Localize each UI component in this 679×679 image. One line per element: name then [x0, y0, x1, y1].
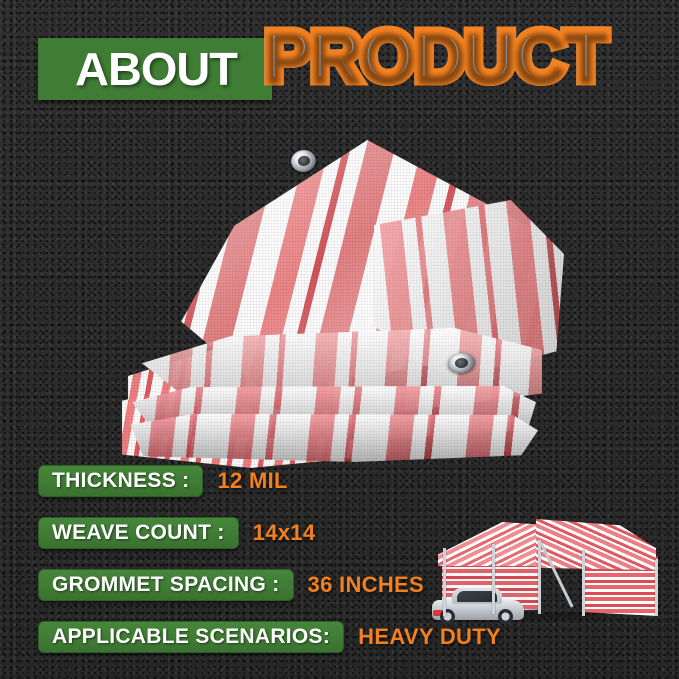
carport-post [655, 560, 658, 616]
header: ABOUT PRODUCT [0, 0, 679, 120]
spec-row-thickness: THICKNESS : 12 MIL [38, 464, 288, 498]
spec-value-grommet-spacing: 36 INCHES [308, 572, 424, 598]
product-title-text: PRODUCT [264, 17, 606, 97]
grommet-icon [290, 148, 318, 173]
spec-label-weave-count: WEAVE COUNT : [38, 517, 239, 549]
carport-post [582, 550, 585, 616]
carport-roof-right [536, 518, 656, 570]
carport-post [492, 544, 495, 614]
car-windshield [457, 591, 497, 602]
spec-label-grommet-spacing: GROMMET SPACING : [38, 569, 294, 601]
product-photo-tarp [118, 128, 538, 460]
product-title: PRODUCT [264, 21, 606, 93]
carport-post [443, 548, 446, 616]
infographic-canvas: ABOUT PRODUCT [0, 0, 679, 679]
spec-label-thickness: THICKNESS : [38, 465, 203, 497]
spec-value-weave-count: 14x14 [253, 520, 316, 546]
spec-value-applicable-scenarios: HEAVY DUTY [358, 624, 501, 650]
spec-row-applicable-scenarios: APPLICABLE SCENARIOS: HEAVY DUTY [38, 620, 501, 654]
about-title: ABOUT [48, 40, 264, 98]
spec-value-thickness: 12 MIL [217, 468, 287, 494]
spec-label-applicable-scenarios: APPLICABLE SCENARIOS: [38, 621, 344, 653]
inset-photo-carport [432, 504, 664, 624]
carport-post [538, 540, 541, 614]
car-rear-wheel [498, 609, 513, 624]
spec-row-grommet-spacing: GROMMET SPACING : 36 INCHES [38, 568, 424, 602]
spec-row-weave-count: WEAVE COUNT : 14x14 [38, 516, 315, 550]
